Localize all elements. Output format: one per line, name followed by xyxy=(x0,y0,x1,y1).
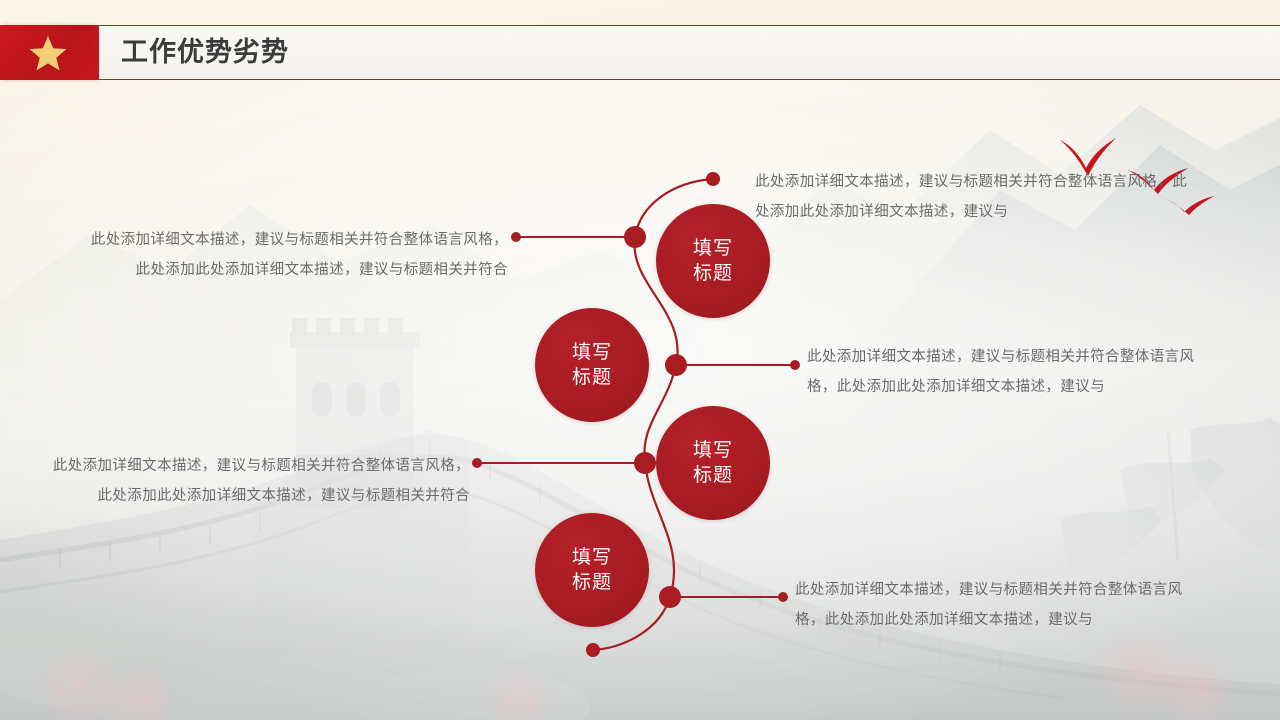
dot-curve-bottom xyxy=(586,643,600,657)
dot-junction-2 xyxy=(665,354,687,376)
s-curve-diagram: 填写 标题 填写 标题 填写 标题 填写 标题 此处添加详细文本描述，建议与标题… xyxy=(0,0,1280,720)
star-icon xyxy=(28,34,68,72)
node-1-title-line-2: 标题 xyxy=(693,261,733,286)
header-accent-bar xyxy=(95,25,99,80)
paragraph-bottom-right: 此处添加详细文本描述，建议与标题相关并符合整体语言风格，此处添加此处添加详细文本… xyxy=(795,576,1195,635)
page-title: 工作优势劣势 xyxy=(121,25,289,80)
dot-leader-right-4 xyxy=(778,592,788,602)
dot-leader-left-1 xyxy=(511,232,521,242)
paragraph-lower-left: 此处添加详细文本描述，建议与标题相关并符合整体语言风格，此处添加此处添加详细文本… xyxy=(50,452,470,511)
dot-curve-top xyxy=(706,172,720,186)
node-4-title-line-1: 填写 xyxy=(572,545,612,570)
dot-leader-right-2 xyxy=(790,360,800,370)
dot-leader-left-3 xyxy=(472,458,482,468)
node-1-title-line-1: 填写 xyxy=(693,236,733,261)
node-3-title-line-1: 填写 xyxy=(693,438,733,463)
header-badge xyxy=(0,25,95,80)
node-2-title-line-2: 标题 xyxy=(572,365,612,390)
slide: 工作优势劣势 填写 标题 xyxy=(0,0,1280,720)
node-4-title-line-2: 标题 xyxy=(572,570,612,595)
node-2-title-line-1: 填写 xyxy=(572,340,612,365)
dot-junction-1 xyxy=(624,226,646,248)
node-circle-2[interactable]: 填写 标题 xyxy=(535,308,649,422)
paragraph-top-right: 此处添加详细文本描述，建议与标题相关并符合整体语言风格，此处添加此处添加详细文本… xyxy=(755,168,1195,227)
paragraph-upper-left: 此处添加详细文本描述，建议与标题相关并符合整体语言风格，此处添加此处添加详细文本… xyxy=(88,226,508,285)
node-3-title-line-2: 标题 xyxy=(693,463,733,488)
dot-junction-3 xyxy=(634,452,656,474)
node-circle-1[interactable]: 填写 标题 xyxy=(656,204,770,318)
node-circle-4[interactable]: 填写 标题 xyxy=(535,513,649,627)
slide-header: 工作优势劣势 xyxy=(0,25,1280,80)
node-circle-3[interactable]: 填写 标题 xyxy=(656,406,770,520)
dot-junction-4 xyxy=(659,586,681,608)
paragraph-middle-right: 此处添加详细文本描述，建议与标题相关并符合整体语言风格，此处添加此处添加详细文本… xyxy=(807,343,1195,402)
